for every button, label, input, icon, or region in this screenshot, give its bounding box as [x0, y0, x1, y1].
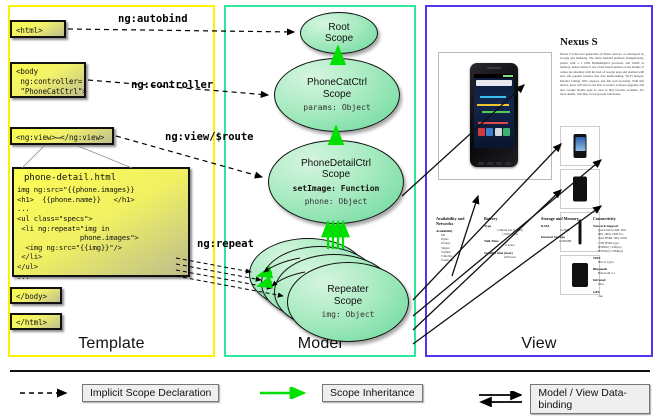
legend: Implicit Scope Declaration Scope Inherit…	[10, 370, 650, 412]
callout-phone-detail-html: phone-detail.html img ng:src="{{phone.im…	[12, 167, 190, 277]
scope-repeater: Repeater Scope img: Object	[287, 262, 409, 342]
spec-column: Storage and Memory RAM 512MB Internal St…	[541, 216, 589, 243]
double-arrow-icon	[475, 391, 522, 407]
callout-code: img ng:src="{{phone.images}} <h1> {{phon…	[14, 185, 188, 281]
column-label-template: Template	[10, 335, 213, 353]
code-box-body-close: </body>	[10, 287, 62, 304]
green-arrow-icon	[258, 387, 314, 399]
edge-label-repeat: ng:repeat	[197, 238, 254, 250]
scope-repeater-name: Repeater Scope	[327, 284, 368, 307]
phone-app-dock	[476, 128, 512, 138]
phone-wallpaper-line-1	[480, 96, 506, 98]
legend-label: Implicit Scope Declaration	[82, 384, 219, 402]
scope-phonedetailctrl: PhoneDetailCtrl Scope setImage: Function…	[268, 140, 404, 224]
edge-label-autobind: ng:autobind	[118, 13, 188, 25]
phone-wallpaper-line-4	[478, 122, 508, 124]
code-box-body-open: <body ng:controller= "PhoneCatCtrl">	[10, 62, 86, 98]
phone-description: Nexus S is the next generation of Nexus …	[560, 52, 644, 120]
scope-repeater-attr-img: img: Object	[322, 310, 375, 320]
spec-value: Vodafone	[436, 258, 480, 262]
spec-heading: Battery	[484, 216, 536, 221]
spec-value: false	[593, 282, 645, 286]
phone-title: Nexus S	[560, 36, 598, 48]
edge-label-controller: ng:controller	[131, 79, 213, 91]
spec-value: true	[593, 294, 645, 298]
phone-earpiece	[487, 67, 501, 69]
spec-heading: Availability and Networks	[436, 216, 480, 226]
phone-wallpaper-line-3	[482, 111, 510, 113]
phone-hardware-buttons	[474, 161, 514, 166]
legend-label: Scope Inheritance	[322, 384, 423, 402]
scope-phonecatctrl-attr-params: params: Object	[303, 103, 370, 113]
phone-wallpaper-line-2	[477, 104, 509, 106]
spec-value: HSUPA (5.76Mbps)	[593, 249, 645, 253]
spec-heading: Connectivity	[593, 216, 645, 221]
view-rendered-page: Nexus S Nexus S is the next generation o…	[436, 34, 644, 320]
code-box-html-open: <html>	[10, 20, 66, 38]
phone-thumbnail[interactable]	[560, 169, 600, 209]
code-box-html-close: </html>	[10, 313, 62, 330]
spec-value: 6 hours	[484, 243, 536, 247]
phone-searchbar	[476, 80, 512, 86]
phone-image	[470, 63, 518, 167]
dashed-arrow-icon	[18, 387, 74, 399]
diagram-canvas: Template Model View <html> <body ng:cont…	[0, 0, 660, 420]
edge-label-route: ng:view/$route	[165, 131, 254, 143]
phone-statusbar	[474, 74, 514, 78]
spec-value: 512MB	[541, 228, 589, 232]
scope-phonedetailctrl-name: PhoneDetailCtrl Scope	[301, 158, 371, 181]
scope-repeater-stack: Repeater Scope img: Object	[249, 236, 409, 344]
spec-heading: Storage and Memory	[541, 216, 589, 221]
spec-column: Availability and Networks Availability M…	[436, 216, 480, 262]
phone-thumbnail[interactable]	[560, 126, 600, 166]
legend-item-model-view-databinding: Model / View Data-binding	[475, 384, 650, 414]
spec-column: Connectivity Network Support Quad-band G…	[593, 216, 645, 298]
legend-label: Model / View Data-binding	[530, 384, 650, 414]
scope-phonedetailctrl-attr-setimage: setImage: Function	[293, 184, 380, 194]
scope-root: Root Scope	[300, 12, 378, 54]
spec-value: 428 hours	[484, 255, 536, 259]
column-label-view: View	[427, 335, 651, 353]
spec-value: (1500 mAh)	[484, 232, 536, 236]
spec-value: Bluetooth 2.1	[593, 271, 645, 275]
spec-value: 16384MB	[541, 239, 589, 243]
scope-phonedetailctrl-attr-phone: phone: Object	[305, 197, 368, 207]
legend-item-scope-inheritance: Scope Inheritance	[258, 384, 423, 402]
scope-phonecatctrl: PhoneCatCtrl Scope params: Object	[274, 58, 400, 132]
legend-item-implicit-scope-declaration: Implicit Scope Declaration	[18, 384, 219, 402]
spec-value: 802.11 b/g/n	[593, 260, 645, 264]
code-box-ngview: <ng:view>▭</ng:view>	[10, 127, 114, 145]
callout-title: phone-detail.html	[14, 169, 188, 185]
phone-hero-image-frame	[438, 52, 552, 180]
scope-root-name: Root Scope	[325, 22, 353, 45]
scope-phonecatctrl-name: PhoneCatCtrl Scope	[307, 77, 367, 100]
phone-screen	[474, 74, 514, 148]
legend-divider	[10, 370, 650, 372]
spec-column: Battery Type Lithium Ion (Li-Ion) (1500 …	[484, 216, 536, 259]
